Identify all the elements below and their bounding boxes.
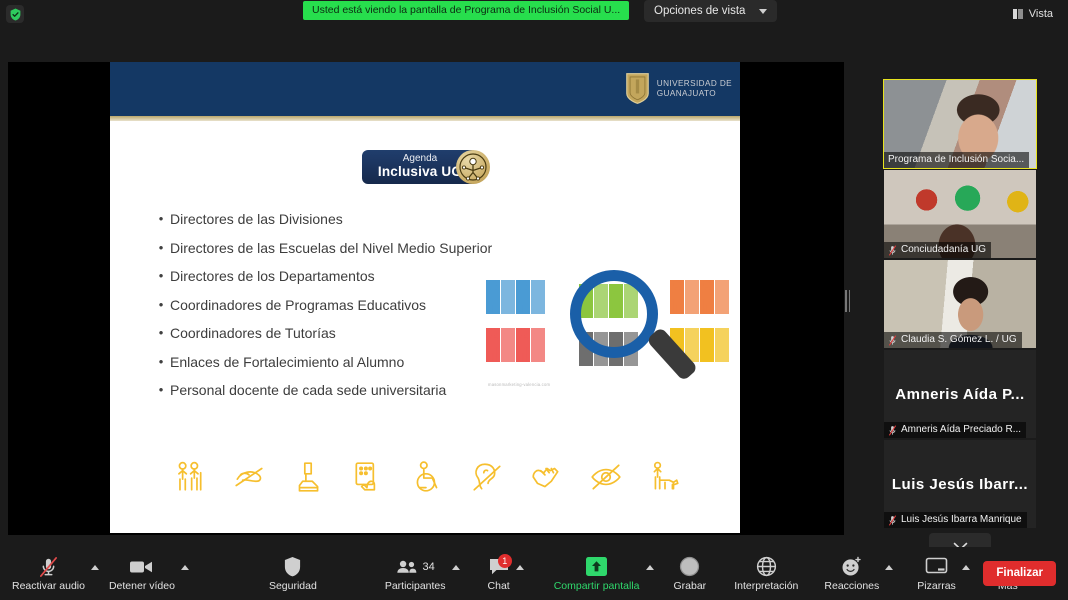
layout-grid-icon [1013,9,1024,19]
elderly-couple-icon [172,460,206,494]
no-smell-icon [232,460,266,494]
reactions-options-caret[interactable] [883,547,899,600]
toolbar-label: Grabar [674,580,707,592]
toolbar-label: Seguridad [269,580,317,592]
video-tile[interactable]: Claudia S. Gómez L. / UG [884,260,1036,348]
participant-name-label: Conciudadanía UG [884,242,991,258]
participant-name-label: Claudia S. Gómez L. / UG [884,332,1022,348]
people-icon: 34 [396,556,435,578]
mic-off-icon [888,245,897,256]
person-figure-icon [516,280,530,314]
toolbar-label: Reacciones [824,580,879,592]
people-group-blue [486,280,545,314]
bullet-marker: • [152,381,170,399]
toolbar-chat-button[interactable]: 1 Chat [484,547,514,600]
share-options-caret[interactable] [644,547,660,600]
toolbar-share-screen-button[interactable]: Compartir pantalla [550,547,644,600]
bullet-text: Coordinadores de Tutorías [170,324,336,342]
bullet-text: Personal docente de cada sede universita… [170,381,446,399]
video-options-caret[interactable] [179,547,195,600]
university-name: UNIVERSIDAD DE GUANAJUATO [657,79,732,99]
bullet-marker: • [152,210,170,228]
ug-shield-icon [625,72,650,105]
people-group-orange [670,280,729,314]
whiteboard-icon [925,556,948,578]
end-meeting-button[interactable]: Finalizar [983,561,1056,586]
person-figure-icon [516,328,530,362]
video-tile[interactable]: Conciudadanía UG [884,170,1036,258]
toolbar-video-button[interactable]: Detener vídeo [105,547,179,600]
person-figure-icon [501,328,515,362]
blind-eye-icon [589,460,623,494]
person-figure-icon [486,280,500,314]
toolbar-label: Reactivar audio [12,580,85,592]
mic-off-icon [888,335,897,346]
caret-up-icon [181,565,189,570]
zoom-meeting-window: Usted está viendo la pantalla de Program… [0,0,1068,600]
video-tile[interactable]: Programa de Inclusión Socia... [884,80,1036,168]
mic-off-icon [38,556,59,578]
brand-line-2: GUANAJUATO [657,89,732,99]
image-credit: masonmarketing-valencia.com [488,382,550,387]
view-button[interactable]: Vista [1006,4,1060,23]
bullet-text: Enlaces de Fortalecimiento al Alumno [170,353,404,371]
participant-count: 34 [423,561,435,573]
participant-name: Claudia S. Gómez L. / UG [901,332,1017,348]
shield-icon [283,556,302,578]
view-options-button[interactable]: Opciones de vista [644,0,777,22]
person-figure-icon [685,280,699,314]
participant-name-label: Amneris Aída Preciado R... [884,422,1026,438]
brand-line-1: UNIVERSIDAD DE [657,79,732,89]
caret-up-icon [646,565,654,570]
participant-name: Amneris Aída Preciado R... [901,422,1021,438]
toolbar-participants-button[interactable]: 34 Participantes [381,547,450,600]
toolbar-reactions-button[interactable]: Reacciones [820,547,883,600]
toolbar-whiteboard-button[interactable]: Pizarras [913,547,960,600]
panel-resize-handle[interactable] [845,290,850,312]
globe-icon [756,556,777,578]
chevron-down-icon [759,9,767,14]
toolbar-security-button[interactable]: Seguridad [265,547,321,600]
view-button-label: Vista [1029,8,1053,20]
deaf-ear-icon [470,460,504,494]
caret-up-icon [516,565,524,570]
person-figure-icon [700,328,714,362]
caret-up-icon [962,565,970,570]
person-figure-icon [715,328,729,362]
caret-up-icon [452,565,460,570]
shield-check-icon [9,8,22,21]
toolbar-label: Pizarras [917,580,956,592]
toolbar-label: Detener vídeo [109,580,175,592]
toolbar-label: Chat [488,580,510,592]
bullet-text: Directores de los Departamentos [170,267,375,285]
participant-name: Programa de Inclusión Socia... [888,152,1024,168]
caret-up-icon [91,565,99,570]
mute-options-caret[interactable] [89,547,105,600]
screen-share-banner: Usted está viendo la pantalla de Program… [303,1,629,20]
bullet-marker: • [152,239,170,257]
list-item: • Directores de las Escuelas del Nivel M… [152,239,572,257]
person-figure-icon [531,280,545,314]
inclusion-figure-icon [456,150,490,184]
bullet-marker: • [152,353,170,371]
participant-filmstrip: Programa de Inclusión Socia... Conciudad… [884,80,1036,559]
person-figure-icon [486,328,500,362]
caret-up-icon [885,565,893,570]
bullet-marker: • [152,296,170,314]
smiley-plus-icon [841,556,862,578]
participant-name: Luis Jesús Ibarra Manrique [901,512,1022,528]
bullet-text: Directores de las Divisiones [170,210,343,228]
record-icon [679,556,700,578]
encryption-shield-icon[interactable] [6,5,24,23]
participant-name-label: Programa de Inclusión Socia... [884,152,1029,168]
toolbar-label: Compartir pantalla [554,580,640,592]
accessibility-icon-row [172,460,682,494]
agenda-badge: Agenda Inclusiva UG [362,150,492,184]
person-figure-icon [715,280,729,314]
inclusion-emblem-icon [456,150,490,184]
prosthetic-leg-icon [291,460,325,494]
people-group-red [486,328,545,362]
person-figure-icon [670,280,684,314]
diversity-magnifier-illustration: masonmarketing-valencia.com [482,270,737,395]
video-tile[interactable]: Luis Jesús Ibarr... Luis Jesús Ibarra Ma… [884,440,1036,528]
toolbar-mute-button[interactable]: Reactivar audio [8,547,89,600]
mic-off-icon [888,425,897,436]
person-figure-icon [700,280,714,314]
guide-dog-icon [648,460,682,494]
sign-language-icon [529,460,563,494]
list-item: • Directores de las Divisiones [152,210,572,228]
toolbar-record-button[interactable]: Grabar [670,547,711,600]
video-camera-icon [129,556,154,578]
bullet-text: Coordinadores de Programas Educativos [170,296,426,314]
chat-unread-badge: 1 [498,554,512,568]
mic-off-icon [888,515,897,526]
wheelchair-icon [410,460,444,494]
person-figure-icon [531,328,545,362]
toolbar-label: Participantes [385,580,446,592]
top-bar: Usted está viendo la pantalla de Program… [0,0,1068,26]
view-options-label: Opciones de vista [654,5,745,17]
magnifier-lens-icon [570,270,658,358]
participant-name-label: Luis Jesús Ibarra Manrique [884,512,1027,528]
meeting-toolbar: Reactivar audio Detener vídeo Seguridad [0,547,1068,600]
share-screen-icon [585,556,608,578]
toolbar-interpretation-button[interactable]: Interpretación [730,547,802,600]
chat-options-caret[interactable] [514,547,530,600]
slide-gold-rule [110,116,740,121]
whiteboard-options-caret[interactable] [960,547,976,600]
person-figure-icon [501,280,515,314]
bullet-text: Directores de las Escuelas del Nivel Med… [170,239,492,257]
presentation-slide: UNIVERSIDAD DE GUANAJUATO Agenda Inclusi… [110,62,740,533]
video-tile[interactable]: Amneris Aída P... Amneris Aída Preciado … [884,350,1036,438]
university-logo: UNIVERSIDAD DE GUANAJUATO [625,72,732,105]
participant-name: Conciudadanía UG [901,242,986,258]
bullet-marker: • [152,267,170,285]
bullet-marker: • [152,324,170,342]
shared-screen-stage[interactable]: UNIVERSIDAD DE GUANAJUATO Agenda Inclusi… [8,62,844,535]
toolbar-label: Interpretación [734,580,798,592]
participants-options-caret[interactable] [450,547,466,600]
braille-reading-icon [351,460,385,494]
